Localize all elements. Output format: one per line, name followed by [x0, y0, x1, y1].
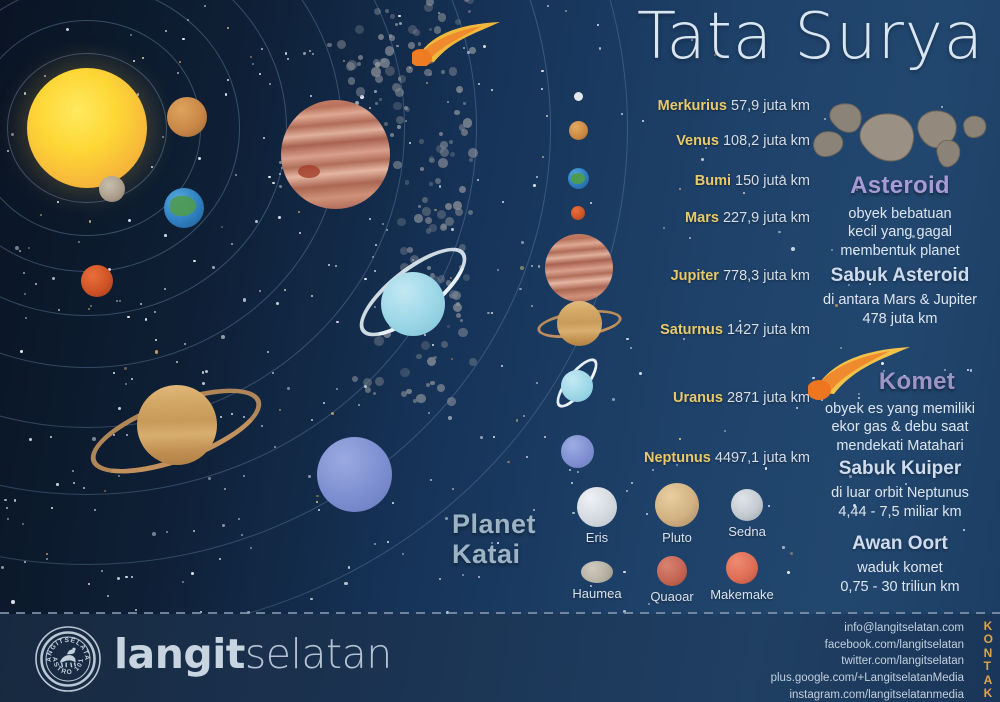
- planet-distance: 2871 juta km: [727, 390, 810, 406]
- awan-oort-line-2: 0,75 - 30 triliun km: [800, 578, 1000, 597]
- awan-oort-heading: Awan Oort: [800, 533, 1000, 556]
- dwarf-planet-name: Sedna: [712, 524, 782, 539]
- planet-name: Merkurius: [658, 98, 727, 114]
- planet-distance: 4497,1 juta km: [715, 450, 810, 466]
- asteroid-heading: Asteroid: [800, 172, 1000, 200]
- planet-distance: 150 juta km: [735, 173, 810, 189]
- dwarf-planet-item: Quaoar: [637, 556, 707, 604]
- sabuk-kuiper-heading: Sabuk Kuiper: [800, 458, 1000, 481]
- langitselatan-logo-icon: LANGITSELATAN * ASTRO 101 *: [34, 625, 102, 693]
- dwarf-planet-item: Sedna: [712, 489, 782, 539]
- planet-name: Neptunus: [644, 450, 711, 466]
- neptune-scale-icon: [561, 435, 594, 468]
- dwarf-planet-title: Planet Katai: [452, 509, 552, 569]
- planet-name: Venus: [676, 133, 719, 149]
- sabuk-asteroid-line-1: di antara Mars & Jupiter: [800, 291, 1000, 310]
- mars-scale-icon: [571, 206, 585, 220]
- uranus-scale-icon: [561, 370, 593, 402]
- komet-desc-3: mendekati Matahari: [800, 437, 1000, 456]
- dwarf-planet-item: Makemake: [707, 552, 777, 602]
- langitselatan-wordmark: langitselatan: [114, 634, 392, 675]
- planet-name: Jupiter: [671, 268, 719, 284]
- dwarf-planet-icon: [731, 489, 763, 521]
- asteroid-desc-3: membentuk planet: [800, 242, 1000, 261]
- planet-distance: 57,9 juta km: [731, 98, 810, 114]
- sabuk-kuiper-block: Sabuk Kuiper di luar orbit Neptunus 4,44…: [800, 458, 1000, 521]
- kontak-letter: N: [984, 647, 994, 660]
- kontak-letter: A: [984, 674, 994, 687]
- dwarf-planet-icon: [726, 552, 758, 584]
- kontak-letter: T: [984, 660, 994, 673]
- planet-distance: 227,9 juta km: [723, 210, 810, 226]
- sabuk-kuiper-line-1: di luar orbit Neptunus: [800, 484, 1000, 503]
- sabuk-kuiper-line-2: 4,44 - 7,5 miliar km: [800, 503, 1000, 522]
- kontak-letter: K: [984, 620, 994, 633]
- asteroid-desc-2: kecil yang gagal: [800, 223, 1000, 242]
- dwarf-planet-icon: [655, 483, 699, 527]
- dwarf-planet-item: Haumea: [562, 561, 632, 601]
- planet-name: Uranus: [673, 390, 723, 406]
- mars-graphic: [81, 265, 113, 297]
- planet-name: Mars: [685, 210, 719, 226]
- planet-distance: 1427 juta km: [727, 322, 810, 338]
- komet-desc-1: obyek es yang memiliki: [800, 400, 1000, 419]
- uranus-graphic: [381, 272, 445, 336]
- sabuk-asteroid-block: Sabuk Asteroid di antara Mars & Jupiter …: [800, 265, 1000, 328]
- sabuk-asteroid-line-2: 478 juta km: [800, 310, 1000, 329]
- dwarf-planet-name: Eris: [562, 530, 632, 545]
- contact-line[interactable]: info@langitselatan.com: [724, 620, 964, 637]
- sun-graphic: [27, 68, 147, 188]
- dwarf-planet-item: Eris: [562, 487, 632, 545]
- dwarf-planet-icon: [577, 487, 617, 527]
- venus-graphic: [167, 97, 207, 137]
- dwarf-title-line-2: Katai: [452, 539, 552, 569]
- kontak-letter: K: [984, 687, 994, 700]
- awan-oort-block: Awan Oort waduk komet 0,75 - 30 triliun …: [800, 533, 1000, 596]
- kontak-vertical-label: KONTAK: [984, 620, 994, 701]
- komet-desc-2: ekor gas & debu saat: [800, 418, 1000, 437]
- dwarf-title-line-1: Planet: [452, 509, 552, 539]
- komet-block: Komet obyek es yang memiliki ekor gas & …: [800, 368, 1000, 456]
- contact-list: info@langitselatan.comfacebook.com/langi…: [724, 620, 964, 702]
- dwarf-planet-item: Pluto: [642, 483, 712, 545]
- planet-distance: 778,3 juta km: [723, 268, 810, 284]
- dwarf-planet-name: Haumea: [562, 586, 632, 601]
- saturn-scale-icon: [557, 301, 602, 346]
- dwarf-planet-name: Quaoar: [637, 589, 707, 604]
- dwarf-planet-name: Makemake: [707, 587, 777, 602]
- awan-oort-line-1: waduk komet: [800, 559, 1000, 578]
- contact-line[interactable]: plus.google.com/+LangitselatanMedia: [724, 670, 964, 687]
- planet-distance: 108,2 juta km: [723, 133, 810, 149]
- contact-line[interactable]: twitter.com/langitselatan: [724, 653, 964, 670]
- neptune-graphic: [317, 437, 392, 512]
- wordmark-thin: selatan: [245, 630, 392, 678]
- wordmark-bold: langit: [114, 630, 245, 678]
- page-title: Tata Surya: [556, 4, 1000, 71]
- kontak-letter: O: [984, 633, 994, 646]
- saturn-graphic: [137, 385, 217, 465]
- jupiter-graphic: [281, 100, 390, 209]
- jupiter-scale-icon: [545, 234, 613, 302]
- mercury-graphic: [99, 176, 125, 202]
- infographic-poster: Tata Surya Merkurius 57,9 juta kmVenus 1…: [0, 0, 1000, 702]
- sabuk-asteroid-heading: Sabuk Asteroid: [800, 265, 1000, 288]
- contact-line[interactable]: instagram.com/langitselatanmedia: [724, 687, 964, 702]
- dwarf-planet-name: Pluto: [642, 530, 712, 545]
- asteroid-cluster-graphic: [812, 86, 998, 178]
- contact-line[interactable]: facebook.com/langitselatan: [724, 637, 964, 654]
- komet-heading: Komet: [800, 368, 1000, 396]
- comet-graphic: [412, 18, 506, 66]
- mercury-scale-icon: [574, 92, 583, 101]
- asteroid-desc-1: obyek bebatuan: [800, 205, 1000, 224]
- venus-scale-icon: [569, 121, 588, 140]
- dwarf-planet-icon: [657, 556, 687, 586]
- jupiter-great-red-spot: [298, 165, 320, 178]
- planet-name: Bumi: [695, 173, 731, 189]
- planet-name: Saturnus: [660, 322, 723, 338]
- asteroid-block: Asteroid obyek bebatuan kecil yang gagal…: [800, 172, 1000, 261]
- dwarf-planet-icon: [581, 561, 613, 583]
